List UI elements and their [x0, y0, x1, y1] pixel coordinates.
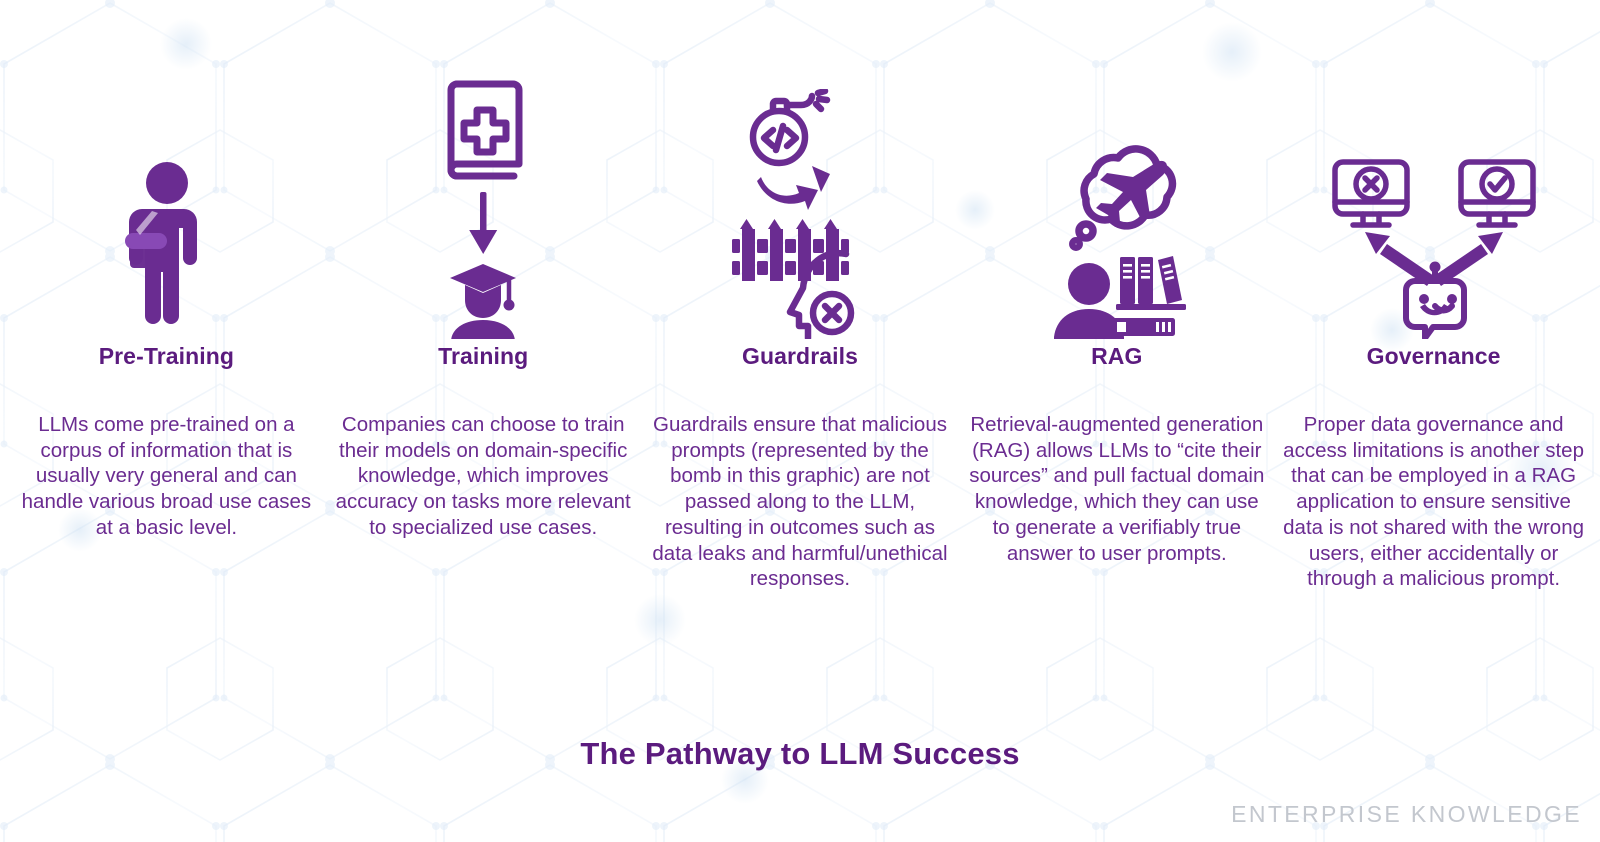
- column-training: Training Companies can choose to train t…: [325, 0, 642, 541]
- down-arrow-icon: [469, 192, 497, 254]
- pathway-columns: Pre-Training LLMs come pre-trained on a …: [0, 0, 1600, 592]
- curved-arrow-icon: [757, 166, 830, 210]
- chatbot-icon: [1406, 272, 1464, 338]
- column-guardrails: Guardrails Guardrails ensure that malici…: [642, 0, 959, 592]
- bomb-fence-blocked-head-icon: [732, 89, 867, 339]
- person-with-bookshelf-icon: [1054, 256, 1186, 339]
- footer: The Pathway to LLM Success ENTERPRISE KN…: [0, 722, 1600, 842]
- person-with-books-thought-bubble-icon: [1042, 134, 1192, 339]
- column-body-pre-training: LLMs come pre-trained on a corpus of inf…: [8, 412, 325, 541]
- column-heading-guardrails: Guardrails: [742, 345, 858, 368]
- picket-fence-icon: [732, 219, 849, 281]
- icon-zone-governance: [1275, 0, 1592, 345]
- column-body-training: Companies can choose to train their mode…: [325, 412, 642, 541]
- column-heading-rag: RAG: [1091, 345, 1142, 368]
- monitor-approved-icon: [1461, 162, 1533, 225]
- column-heading-training: Training: [438, 345, 528, 368]
- icon-zone-pre-training: [8, 0, 325, 345]
- column-heading-pre-training: Pre-Training: [99, 345, 234, 368]
- icon-zone-guardrails: [642, 0, 959, 345]
- monitor-denied-icon: [1335, 162, 1407, 225]
- column-body-guardrails: Guardrails ensure that malicious prompts…: [642, 412, 959, 592]
- column-rag: RAG Retrieval-augmented generation (RAG)…: [958, 0, 1275, 566]
- brand-wordmark: ENTERPRISE KNOWLEDGE: [1231, 801, 1582, 828]
- icon-zone-rag: [958, 0, 1275, 345]
- icon-zone-training: [325, 0, 642, 345]
- chatbot-routing-to-monitors-icon: [1329, 154, 1539, 339]
- column-governance: Governance Proper data governance and ac…: [1275, 0, 1592, 592]
- column-body-rag: Retrieval-augmented generation (RAG) all…: [958, 412, 1275, 566]
- student-with-backpack-icon: [106, 159, 226, 339]
- infographic-root: Pre-Training LLMs come pre-trained on a …: [0, 0, 1600, 842]
- medical-book-to-graduate-icon: [421, 74, 546, 339]
- main-title: The Pathway to LLM Success: [0, 736, 1600, 772]
- code-bomb-icon: [753, 91, 827, 163]
- column-body-governance: Proper data governance and access limita…: [1275, 412, 1592, 592]
- column-heading-governance: Governance: [1367, 345, 1501, 368]
- column-pre-training: Pre-Training LLMs come pre-trained on a …: [8, 0, 325, 541]
- graduate-person-icon: [450, 264, 516, 339]
